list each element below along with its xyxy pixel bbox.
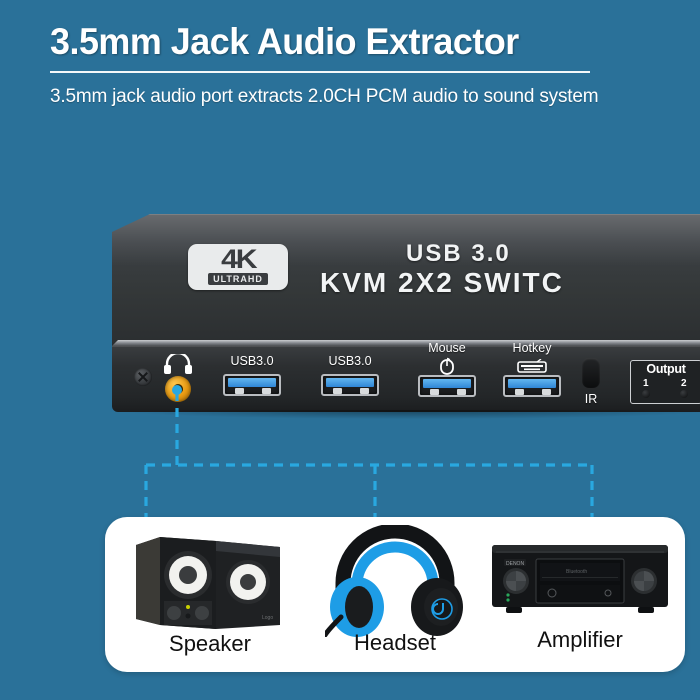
amplifier-item: DENON Bluetooth	[485, 539, 675, 669]
amplifier-label: Amplifier	[537, 627, 623, 653]
amplifier-icon: DENON Bluetooth	[490, 539, 670, 621]
mouse-port-label: Mouse	[428, 341, 466, 355]
badge-standard-label: ULTRAHD	[208, 273, 268, 285]
ir-label: IR	[585, 392, 598, 406]
connected-devices-card: Logo Speaker	[105, 517, 685, 672]
device-brand-text: USB 3.0 KVM 2X2 SWITC	[320, 240, 700, 299]
svg-text:DENON: DENON	[506, 561, 524, 567]
panel-screw	[134, 368, 152, 386]
hotkey-port[interactable]: Hotkey	[495, 341, 569, 411]
usb3-port-2[interactable]: USB3.0	[313, 354, 387, 410]
svg-text:Bluetooth: Bluetooth	[566, 569, 587, 575]
output-box-title: Output	[631, 362, 700, 376]
device-drop-shadow	[116, 410, 700, 419]
mouse-port-socket[interactable]	[418, 375, 476, 397]
usb3-port-1-socket[interactable]	[223, 374, 281, 396]
speaker-icon: Logo	[130, 527, 290, 632]
audio-jack-port[interactable]	[165, 376, 191, 402]
headset-item: Headset	[320, 525, 470, 670]
device-brand-line1: USB 3.0	[320, 240, 700, 267]
device-front-panel	[112, 346, 700, 412]
output-channel-1-label: 1	[643, 378, 649, 389]
speaker-item: Logo Speaker	[125, 527, 295, 667]
hotkey-port-label: Hotkey	[513, 341, 552, 355]
kvm-switch-device: 4K ULTRAHD USB 3.0 KVM 2X2 SWITC USB3.0	[112, 214, 700, 424]
headset-label: Headset	[354, 630, 436, 656]
svg-text:Logo: Logo	[262, 615, 273, 621]
ir-receiver: IR	[571, 358, 611, 412]
output-indicator-box: Output 1 2	[630, 360, 700, 404]
output-led-1	[642, 390, 650, 398]
speaker-label: Speaker	[169, 631, 251, 657]
usb3-port-1[interactable]: USB3.0	[215, 354, 289, 410]
page-title: 3.5mm Jack Audio Extractor	[50, 21, 519, 63]
4k-ultrahd-badge: 4K ULTRAHD	[188, 244, 288, 290]
device-brand-line2: KVM 2X2 SWITC	[320, 267, 700, 299]
ir-receiver-icon	[582, 358, 600, 388]
title-underline	[50, 71, 590, 73]
headset-icon	[325, 525, 465, 637]
usb3-port-2-socket[interactable]	[321, 374, 379, 396]
badge-resolution-label: 4K	[221, 246, 255, 272]
infographic-canvas: 3.5mm Jack Audio Extractor 3.5mm jack au…	[0, 0, 700, 700]
mouse-port[interactable]: Mouse	[410, 341, 484, 411]
usb3-port-2-label: USB3.0	[328, 354, 371, 368]
output-channel-2-label: 2	[681, 378, 687, 389]
output-led-2	[680, 390, 688, 398]
page-subtitle: 3.5mm jack audio port extracts 2.0CH PCM…	[50, 86, 630, 107]
hotkey-port-socket[interactable]	[503, 375, 561, 397]
usb3-port-1-label: USB3.0	[230, 354, 273, 368]
